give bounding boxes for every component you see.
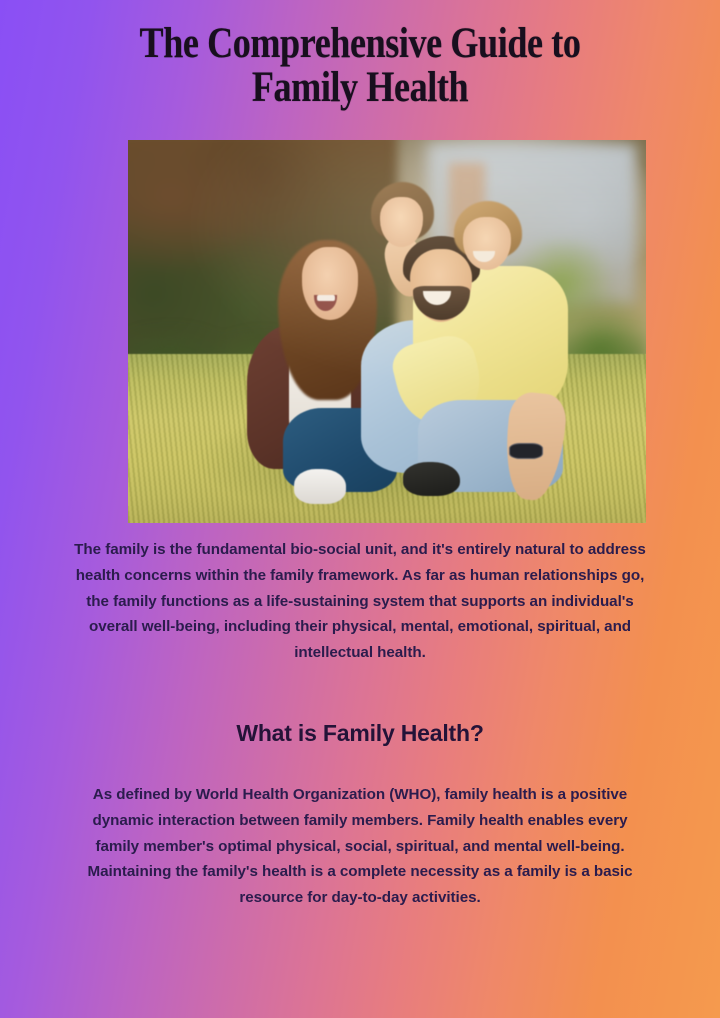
page-title: The Comprehensive Guide to Family Health bbox=[91, 22, 629, 110]
section-heading: What is Family Health? bbox=[72, 718, 648, 748]
photo-canvas bbox=[128, 140, 646, 523]
definition-paragraph: As defined by World Health Organization … bbox=[72, 782, 648, 911]
poster-page: The Comprehensive Guide to Family Health bbox=[0, 0, 720, 1018]
photo-father-shoe bbox=[403, 462, 460, 496]
photo-mother-shoe bbox=[294, 469, 346, 503]
intro-paragraph: The family is the fundamental bio-social… bbox=[72, 537, 648, 666]
photo-father-wristwatch bbox=[509, 443, 543, 459]
family-photo bbox=[128, 140, 646, 523]
title-block: The Comprehensive Guide to Family Health bbox=[40, 22, 680, 110]
